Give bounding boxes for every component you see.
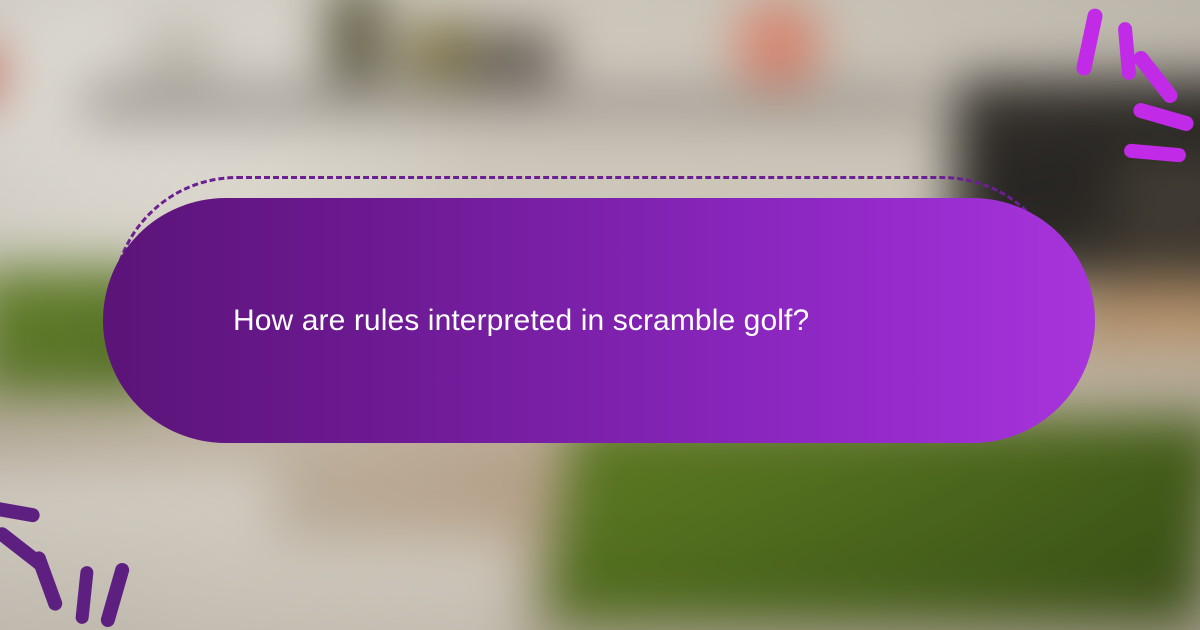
sparkle-ray bbox=[1075, 7, 1104, 77]
sparkle-ray bbox=[1131, 48, 1181, 106]
sparkle-ray bbox=[30, 549, 64, 612]
sparkle-ray bbox=[0, 499, 41, 524]
question-card[interactable]: How are rules interpreted in scramble go… bbox=[103, 198, 1095, 443]
sparkle-ray bbox=[1117, 22, 1136, 81]
sparkle-top-right-icon bbox=[1052, 4, 1200, 154]
question-text: How are rules interpreted in scramble go… bbox=[233, 198, 809, 443]
sparkle-bottom-left-icon bbox=[2, 470, 162, 630]
sparkle-ray bbox=[1132, 101, 1196, 133]
sparkle-ray bbox=[99, 561, 131, 628]
sparkle-ray bbox=[75, 565, 94, 624]
screenshot-canvas: How are rules interpreted in scramble go… bbox=[0, 0, 1200, 630]
